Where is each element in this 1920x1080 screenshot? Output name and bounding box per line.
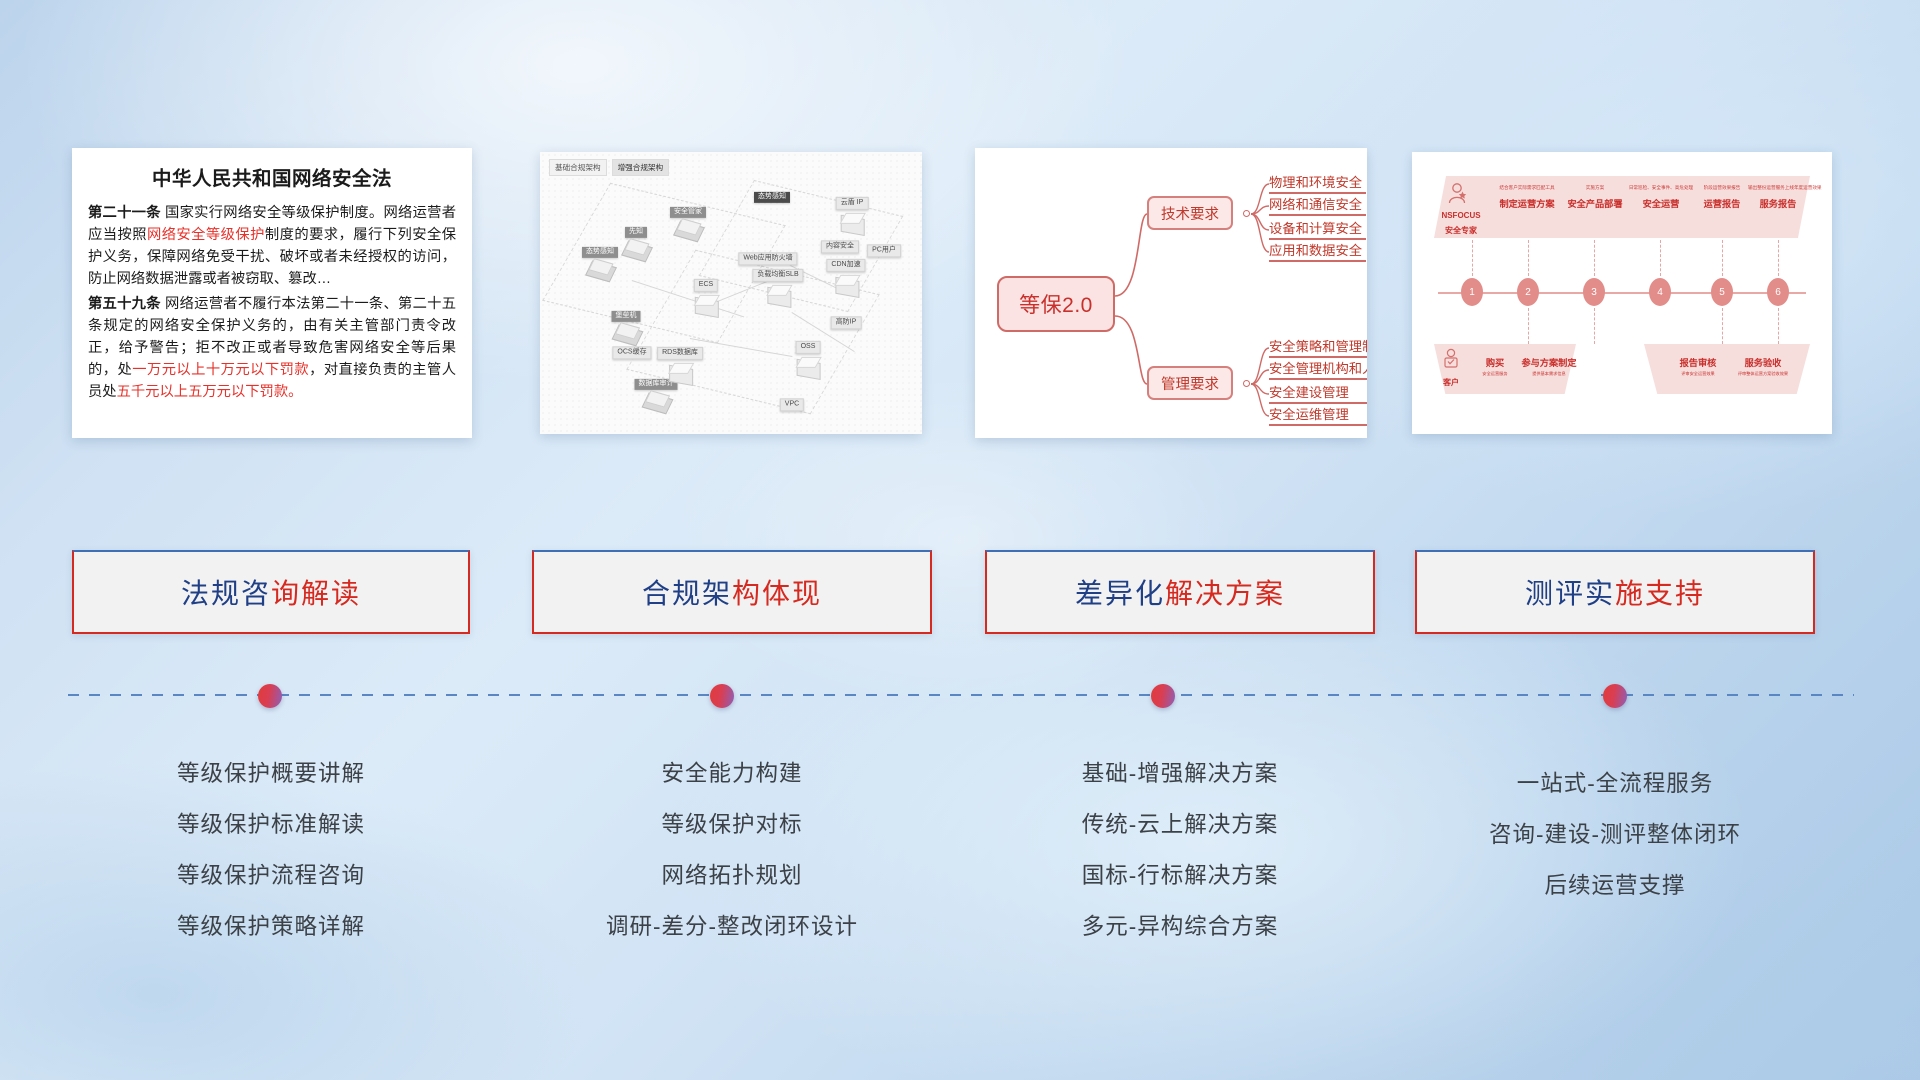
law-article-59: 第五十九条 网络运营者不履行本法第二十一条、第二十五条规定的网络安全保护义务的，… [88,293,456,404]
card-service-flow: NSFOCUS 安全专家 结合客户实际需求匹配工具 制定运营方案 实施方案 安全… [1412,152,1832,434]
list-item: 网络拓扑规划 [532,850,932,901]
node-content-security: 内容安全 [821,234,859,253]
list-item: 多元-异构综合方案 [985,901,1375,952]
mindmap-leaf-physical-env: 物理和环境安全 [1269,172,1362,194]
list-item: 国标-行标解决方案 [985,850,1375,901]
customer-action-purchase: 购买 安全运营服务 [1472,350,1518,377]
list-item: 安全能力构建 [532,748,932,799]
mindmap-collapse-icon-technical[interactable] [1243,210,1250,217]
section-title-evaluation-support[interactable]: 测评实施支持 [1415,550,1815,634]
step-service-report: 输出整份运营服务上线年度运营效果 服务报告 [1748,186,1808,210]
customer-label: 客户 [1436,372,1466,388]
node-cdn: CDN加速 [826,253,865,295]
node-security-butler: 安全管家 [670,200,706,236]
customer-avatar-icon [1442,348,1460,375]
mindmap-leaf-policy-system: 安全策略和管理制度 [1269,336,1367,358]
list-item: 等级保护流程咨询 [72,850,470,901]
law-article-21: 第二十一条 国家实行网络安全等级保护制度。网络运营者应当按照网络安全等级保护制度… [88,202,456,291]
node-anti-ddos: 高防IP [831,310,862,329]
article-59-label: 第五十九条 [88,296,161,312]
mindmap-branch-management: 管理要求 [1147,366,1233,400]
list-item: 传统-云上解决方案 [985,799,1375,850]
node-bastion-host: 堡垒机 [612,304,641,340]
timeline-step-2: 2 [1517,278,1539,306]
mindmap-leaf-device-compute: 设备和计算安全 [1269,218,1362,240]
mindmap-leaf-org-personnel: 安全管理机构和人员 [1269,358,1367,380]
section-title-regulation-consulting[interactable]: 法规咨询解读 [72,550,470,634]
node-situation-awareness: 态势感知 [582,240,618,276]
list-item: 调研-差分-整改闭环设计 [532,901,932,952]
step-deploy: 实施方案 安全产品部署 [1562,186,1628,210]
mindmap-collapse-icon-management[interactable] [1243,380,1250,387]
node-oss: OSS [796,335,821,377]
list-item: 等级保护对标 [532,799,932,850]
mindmap-leaf-network-comm: 网络和通信安全 [1269,194,1362,216]
timeline-dot-3[interactable] [1151,684,1175,708]
node-vpc: VPC [780,392,804,411]
timeline-axis [1438,292,1806,294]
customer-action-participate: 参与方案制定 提供基本需求信息 [1518,350,1580,377]
step-operate: 日常巡检、安全事件、高危处理 安全运营 [1628,186,1694,210]
mindmap-root-node: 等保2.0 [997,276,1115,332]
timeline-dot-2[interactable] [710,684,734,708]
customer-action-acceptance: 服务验收 评审整体运营方案验收效果 [1730,350,1796,377]
mindmap-leaf-app-data: 应用和数据安全 [1269,240,1362,262]
timeline-dot-1[interactable] [258,684,282,708]
node-ecs: ECS [694,273,718,315]
mindmap-leaf-construction-mgmt: 安全建设管理 [1269,382,1349,404]
list-item: 等级保护策略详解 [72,901,470,952]
step-plan: 结合客户实际需求匹配工具 制定运营方案 [1494,186,1560,210]
node-xianzhi: 先知 [623,220,649,256]
article-21-label: 第二十一条 [88,205,161,221]
list-regulation-consulting: 等级保护概要讲解 等级保护标准解读 等级保护流程咨询 等级保护策略详解 [72,748,470,952]
list-item: 基础-增强解决方案 [985,748,1375,799]
card-law-document: 中华人民共和国网络安全法 第二十一条 国家实行网络安全等级保护制度。网络运营者应… [72,148,472,438]
card-architecture-diagram: 基础合规架构 增强合规架构 态势感知 先知 安全管家 堡 [540,152,922,434]
list-item: 等级保护标准解读 [72,799,470,850]
list-item: 等级保护概要讲解 [72,748,470,799]
law-title: 中华人民共和国网络安全法 [88,162,456,191]
node-slb: 负载均衡SLB [752,263,803,305]
list-item: 后续运营支撑 [1415,860,1815,911]
node-rds: RDS数据库 [657,341,703,383]
isometric-canvas: 态势感知 先知 安全管家 堡垒机 数据库审计 态势感知 云盾 IP Web应用防… [540,152,922,434]
expert-label: NSFOCUS 安全专家 [1436,206,1486,236]
article-59-highlight-2: 五千元以上五万元以下罚款。 [117,384,303,400]
list-item: 一站式-全流程服务 [1415,758,1815,809]
list-evaluation-support: 一站式-全流程服务 咨询-建设-测评整体闭环 后续运营支撑 [1415,758,1815,911]
node-ocs-cache: OCS缓存 [612,340,651,359]
timeline-dot-4[interactable] [1603,684,1627,708]
node-pc-user: PC用户 [867,238,901,257]
card-mindmap: 等保2.0 技术要求 管理要求 物理和环境安全 网络和通信安全 设备和计算安全 … [975,148,1367,438]
section-title-differentiated-solution[interactable]: 差异化解决方案 [985,550,1375,634]
mindmap-branch-technical: 技术要求 [1147,196,1233,230]
article-59-highlight-1: 一万元以上十万元以下罚款 [132,362,309,378]
step-ops-report: 阶段运营效果报告 运营报告 [1692,186,1752,210]
timeline-step-1: 1 [1461,278,1483,306]
article-21-highlight: 网络安全等级保护 [147,227,265,243]
list-differentiated-solution: 基础-增强解决方案 传统-云上解决方案 国标-行标解决方案 多元-异构综合方案 [985,748,1375,952]
list-compliance-architecture: 安全能力构建 等级保护对标 网络拓扑规划 调研-差分-整改闭环设计 [532,748,932,952]
timeline-step-5: 5 [1711,278,1733,306]
customer-action-review-report: 报告审核 评审安全运营效果 [1668,350,1728,377]
timeline-step-4: 4 [1649,278,1671,306]
timeline-step-3: 3 [1583,278,1605,306]
mindmap-leaf-ops-mgmt: 安全运维管理 [1269,404,1349,426]
section-title-compliance-architecture[interactable]: 合规架构体现 [532,550,932,634]
list-item: 咨询-建设-测评整体闭环 [1415,809,1815,860]
timeline-dashed-line [68,694,1854,696]
timeline-step-6: 6 [1767,278,1789,306]
node-cloud-shield-ip: 云盾 IP [836,191,869,233]
node-situation-awareness-2: 态势感知 [754,185,790,203]
